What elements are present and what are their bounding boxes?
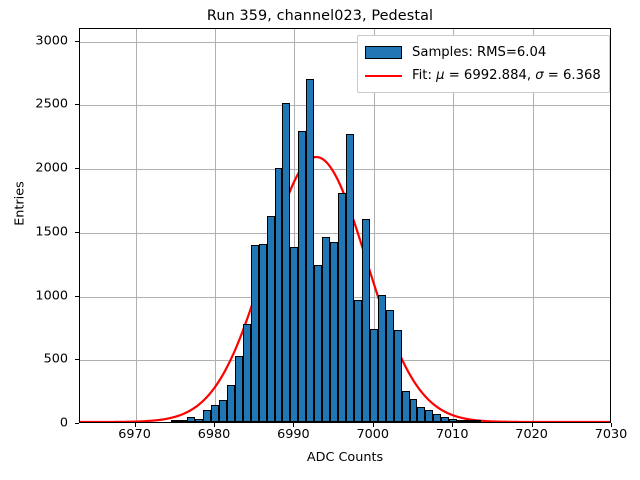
- histogram-bar: [251, 245, 259, 422]
- histogram-bar: [267, 216, 275, 422]
- histogram-bar: [425, 410, 433, 422]
- histogram-bar: [203, 410, 211, 422]
- legend-label-fit: Fit: μ = 6992.884, σ = 6.368: [412, 68, 601, 83]
- y-tick-label: 3000: [0, 33, 68, 48]
- x-tick-label: 6990: [277, 427, 310, 442]
- histogram-bar: [417, 407, 425, 422]
- histogram-bar: [330, 242, 338, 422]
- legend-label-samples: Samples: RMS=6.04: [412, 45, 546, 60]
- histogram-bar: [370, 329, 378, 422]
- y-tick-mark: [75, 104, 79, 105]
- histogram-bar: [322, 237, 330, 422]
- histogram-bar: [346, 134, 354, 422]
- histogram-bar: [227, 385, 235, 422]
- x-tick-label: 6970: [118, 427, 151, 442]
- histogram-bar: [338, 193, 346, 422]
- histogram-bar: [179, 420, 187, 422]
- mu-symbol: μ: [436, 68, 444, 83]
- histogram-bar: [354, 300, 362, 422]
- x-tick-label: 7020: [515, 427, 548, 442]
- histogram-bar: [386, 310, 394, 422]
- histogram-bar: [402, 391, 410, 422]
- y-tick-mark: [75, 296, 79, 297]
- histogram-bar: [243, 324, 251, 422]
- histogram-bar: [449, 419, 457, 422]
- histogram-bar: [314, 265, 322, 422]
- histogram-bar: [195, 419, 203, 422]
- y-tick-label: 500: [0, 352, 68, 367]
- histogram-bar: [171, 420, 179, 422]
- figure-canvas: Run 359, channel023, Pedestal 6970698069…: [0, 0, 640, 480]
- x-axis-label: ADC Counts: [79, 450, 611, 465]
- legend-line-swatch-icon: [365, 75, 402, 77]
- y-tick-mark: [75, 168, 79, 169]
- histogram-bar: [259, 244, 267, 422]
- histogram-bar: [219, 400, 227, 422]
- histogram-bar: [235, 356, 243, 422]
- y-axis-label: Entries: [13, 124, 28, 284]
- y-tick-mark: [75, 41, 79, 42]
- x-tick-label: 6980: [198, 427, 231, 442]
- histogram-bar: [187, 417, 195, 422]
- histogram-bar: [394, 330, 402, 422]
- histogram-bar: [457, 420, 465, 422]
- histogram-bar: [473, 420, 481, 422]
- legend-bar-swatch-icon: [365, 46, 402, 59]
- histogram-bar: [441, 417, 449, 422]
- histogram-bar: [465, 420, 473, 422]
- histogram-bar: [211, 405, 219, 422]
- x-tick-label: 7010: [436, 427, 469, 442]
- legend-item-samples: Samples: RMS=6.04: [365, 41, 601, 64]
- histogram-bar: [362, 219, 370, 422]
- chart-title: Run 359, channel023, Pedestal: [0, 8, 640, 24]
- histogram-bar: [275, 168, 283, 422]
- x-tick-label: 7030: [595, 427, 628, 442]
- y-tick-mark: [75, 232, 79, 233]
- y-tick-label: 1000: [0, 288, 68, 303]
- histogram-bar: [290, 247, 298, 422]
- histogram-bar: [433, 414, 441, 422]
- histogram-bar: [378, 295, 386, 422]
- legend: Samples: RMS=6.04 Fit: μ = 6992.884, σ =…: [357, 35, 610, 93]
- y-tick-mark: [75, 423, 79, 424]
- y-tick-label: 2500: [0, 97, 68, 112]
- y-tick-label: 2000: [0, 161, 68, 176]
- x-tick-label: 7000: [356, 427, 389, 442]
- y-tick-label: 0: [0, 416, 68, 431]
- histogram-bar: [410, 399, 418, 422]
- histogram-bar: [282, 103, 290, 422]
- histogram-bar: [298, 131, 306, 422]
- y-tick-label: 1500: [0, 224, 68, 239]
- sigma-symbol: σ: [535, 68, 543, 83]
- legend-item-fit: Fit: μ = 6992.884, σ = 6.368: [365, 64, 601, 87]
- histogram-bar: [306, 79, 314, 422]
- y-tick-mark: [75, 359, 79, 360]
